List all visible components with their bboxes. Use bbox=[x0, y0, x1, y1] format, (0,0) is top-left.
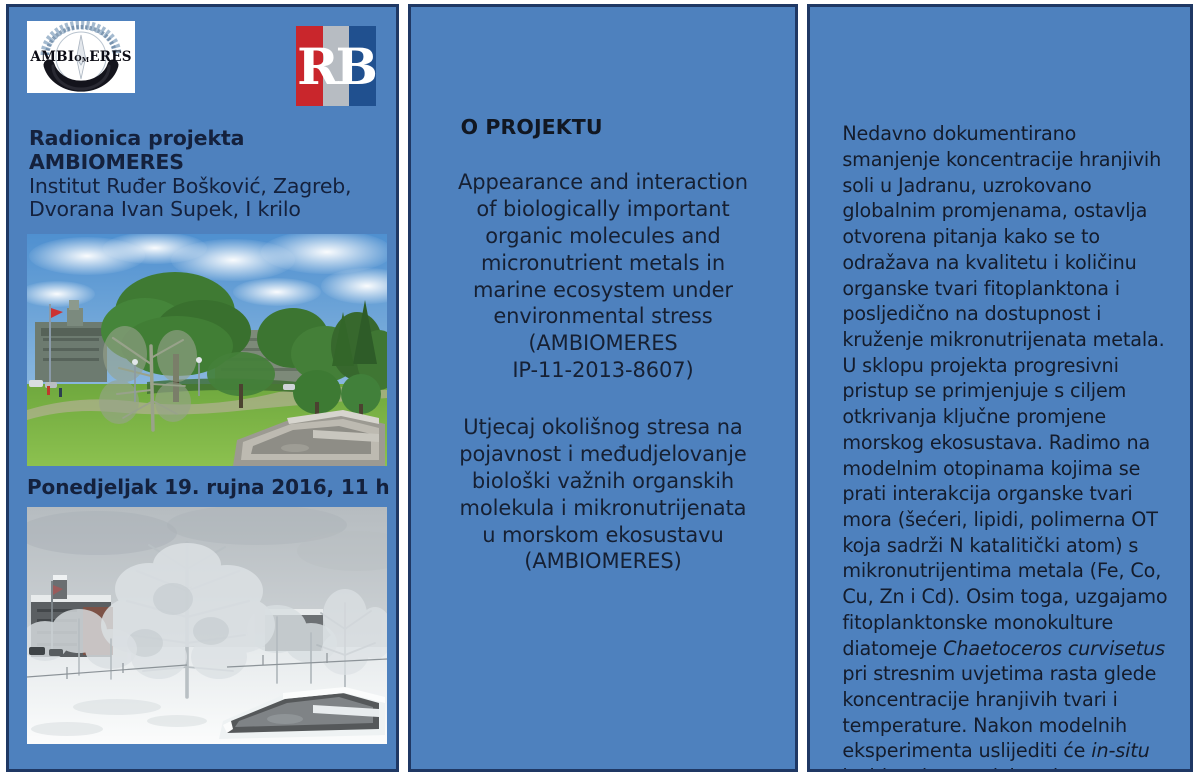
project-title-en: Appearance and interaction of biological… bbox=[429, 169, 778, 384]
species-name: Chaetoceros curvisetus bbox=[943, 637, 1165, 660]
abstract-part1: Nedavno dokumentirano smanjenje koncentr… bbox=[842, 122, 1167, 659]
in-situ-term: in-situ bbox=[1091, 739, 1149, 762]
project-title-hr-line: u morskom ekosustavu bbox=[429, 522, 778, 549]
rb-logo: RB bbox=[296, 26, 376, 106]
middle-content: O PROJEKTU Appearance and interaction of… bbox=[411, 7, 796, 575]
right-content: Nedavno dokumentirano smanjenje koncentr… bbox=[810, 7, 1190, 772]
middle-panel: O PROJEKTU Appearance and interaction of… bbox=[408, 4, 799, 772]
project-title-hr-line: molekula i mikronutrijenata bbox=[429, 495, 778, 522]
logo-row: AMBIOMERES RB bbox=[23, 21, 384, 113]
venue-line2: Dvorana Ivan Supek, I krilo bbox=[29, 198, 396, 222]
venue-line1: Institut Ruđer Bošković, Zagreb, bbox=[29, 175, 396, 199]
project-title-en-line: organic molecules and bbox=[429, 223, 778, 250]
project-title-en-line: micronutrient metals in bbox=[429, 250, 778, 277]
project-title-hr-line: Utjecaj okolišnog stresa na bbox=[429, 414, 778, 441]
event-date: Ponedjeljak 19. rujna 2016, 11 h bbox=[27, 475, 396, 499]
project-title-en-line: environmental stress bbox=[429, 303, 778, 330]
project-title-hr-line: pojavnost i međudjelovanje bbox=[429, 441, 778, 468]
abstract-part3: ispitivanja na odabranim oligotrofnim i … bbox=[842, 765, 1169, 772]
project-code-line: (AMBIOMERES bbox=[429, 330, 778, 357]
left-panel: AMBIOMERES RB Radionica projekta AMBIOME… bbox=[6, 4, 399, 772]
ambiomeres-logo: AMBIOMERES bbox=[27, 21, 135, 93]
photo-campus-summer bbox=[27, 234, 387, 466]
project-title-hr-line: biološki važnih organskih bbox=[429, 468, 778, 495]
project-title-en-line: Appearance and interaction bbox=[429, 169, 778, 196]
project-title-hr: Utjecaj okolišnog stresa na pojavnost i … bbox=[429, 414, 778, 575]
workshop-title-line2: AMBIOMERES bbox=[29, 151, 396, 175]
project-title-en-line: marine ecosystem under bbox=[429, 277, 778, 304]
photo-campus-winter bbox=[27, 507, 387, 744]
right-panel: Nedavno dokumentirano smanjenje koncentr… bbox=[807, 4, 1193, 772]
poster-root: AMBIOMERES RB Radionica projekta AMBIOME… bbox=[0, 0, 1199, 777]
svg-text:RB: RB bbox=[297, 37, 376, 96]
about-heading: O PROJEKTU bbox=[461, 115, 778, 139]
project-title-en-line: of biologically important bbox=[429, 196, 778, 223]
project-code-line: IP-11-2013-8607) bbox=[429, 357, 778, 384]
workshop-heading-block: Radionica projekta AMBIOMERES Institut R… bbox=[29, 127, 396, 222]
workshop-title-line1: Radionica projekta bbox=[29, 127, 396, 151]
project-abstract: Nedavno dokumentirano smanjenje koncentr… bbox=[842, 121, 1176, 772]
project-acronym-hr: (AMBIOMERES) bbox=[429, 548, 778, 575]
title-spacer bbox=[429, 384, 778, 414]
